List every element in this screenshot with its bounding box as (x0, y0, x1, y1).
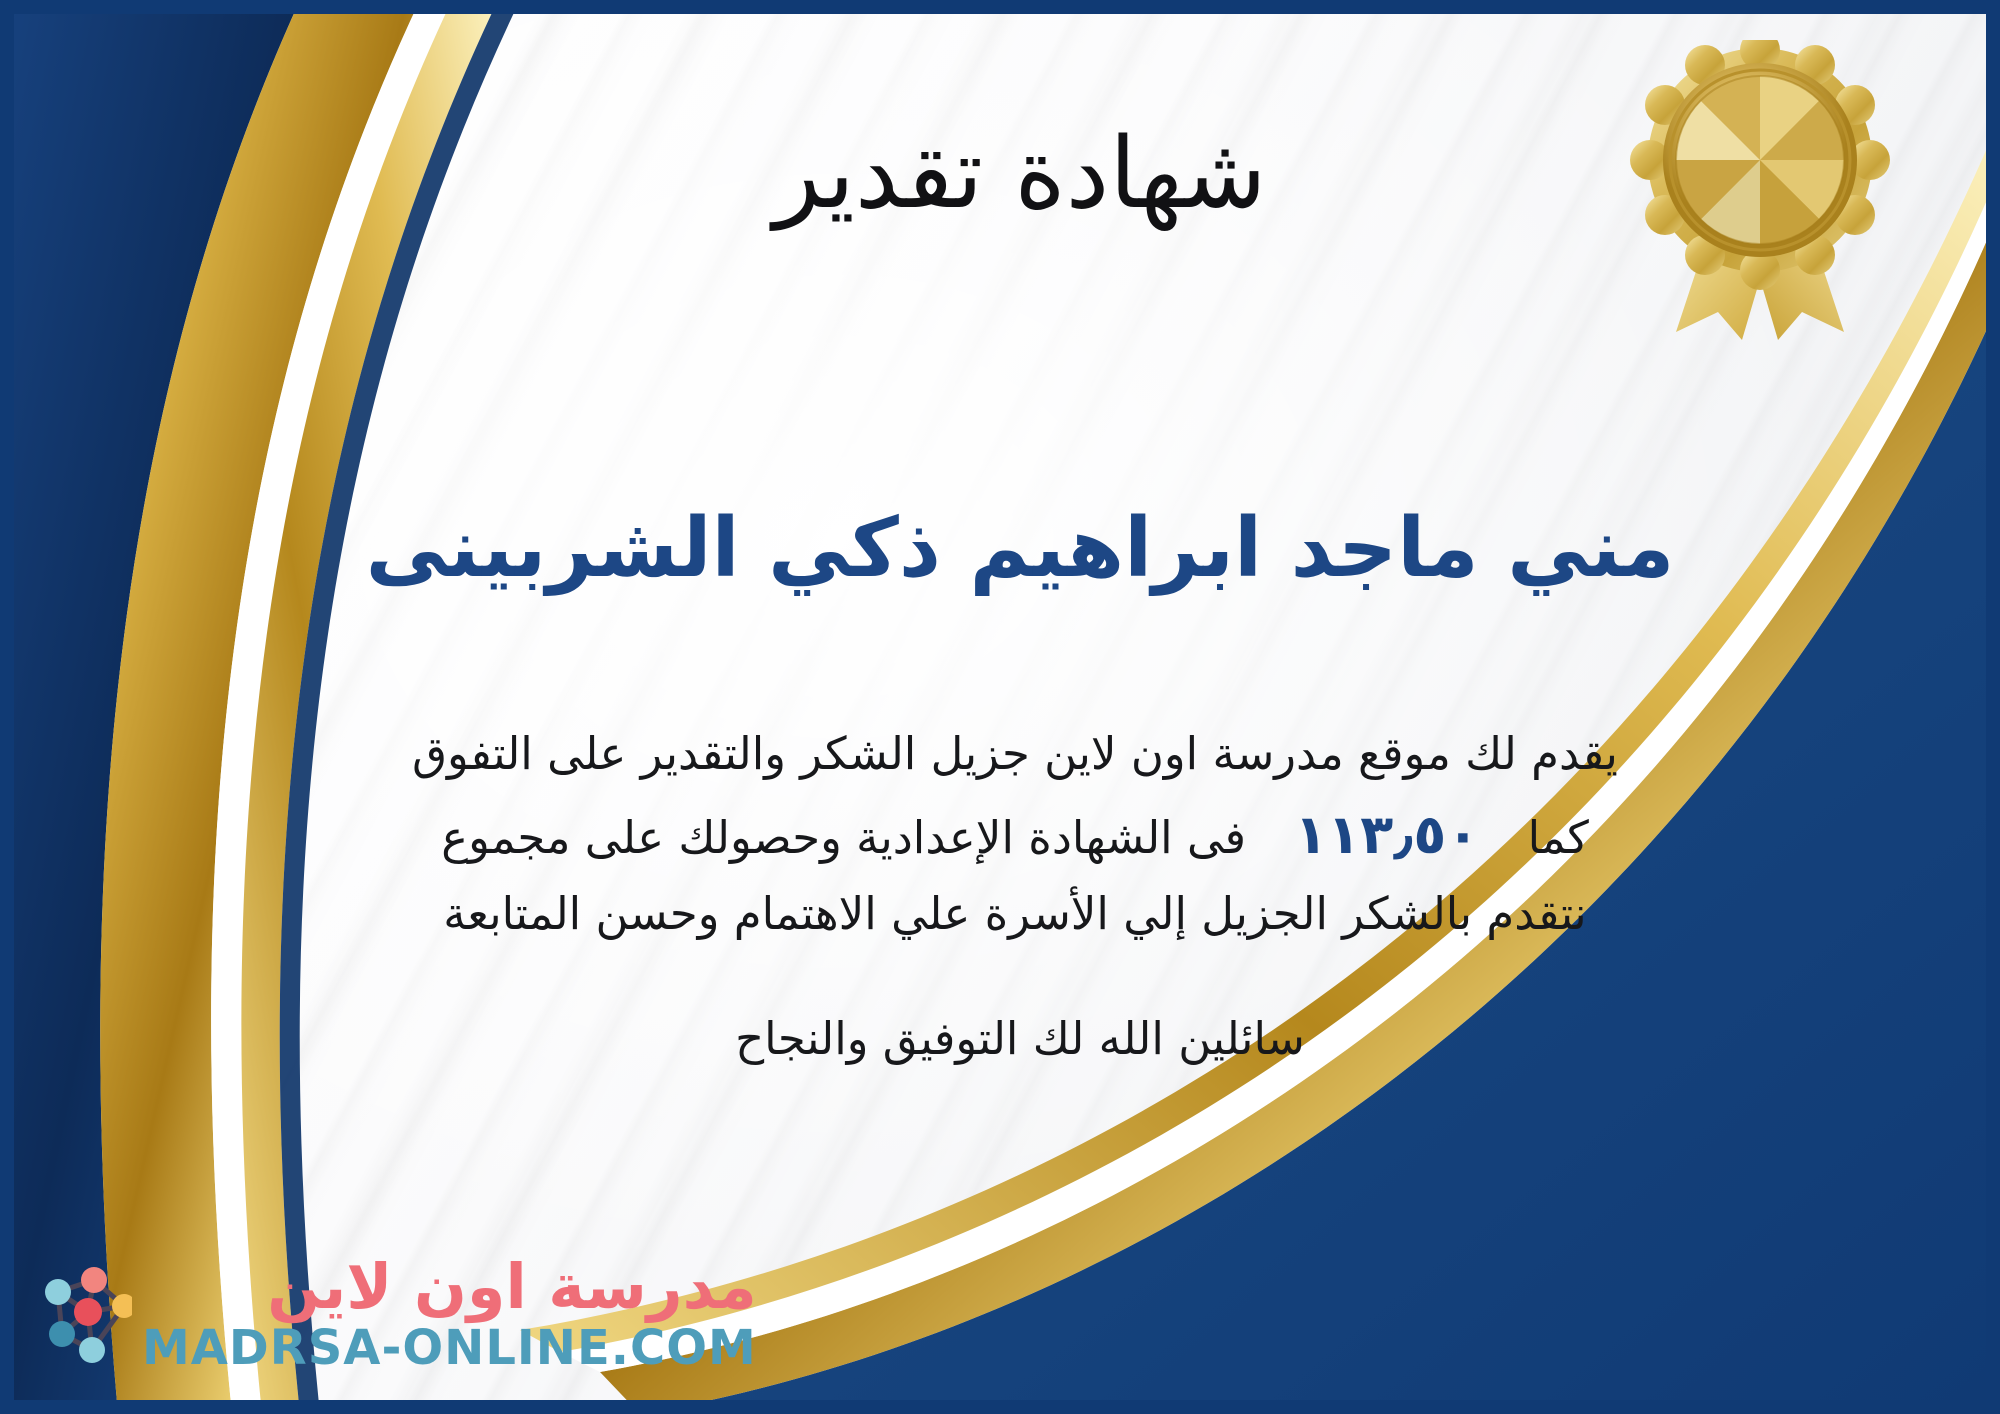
closing-line: سائلين الله لك التوفيق والنجاح (170, 1012, 1870, 1065)
body-line-2-suffix: كما (1528, 811, 1589, 864)
body-line-3: نتقدم بالشكر الجزيل إلي الأسرة علي الاهت… (160, 878, 1870, 951)
recipient-name: مني ماجد ابراهيم ذكي الشربينى (170, 500, 1870, 598)
body-line-2: كما ١١٣٫٥٠ فى الشهادة الإعدادية وحصولك ع… (160, 791, 1870, 878)
brand-domain: MADRSA-ONLINE.COM (142, 1324, 757, 1372)
body-line-2-prefix: فى الشهادة الإعدادية وحصولك على مجموع (441, 811, 1246, 864)
brand-logo[interactable]: مدرسة اون لاين MADRSA-ONLINE.COM (36, 1256, 757, 1372)
brand-name-arabic: مدرسة اون لاين (267, 1256, 757, 1318)
brand-logo-text: مدرسة اون لاين MADRSA-ONLINE.COM (142, 1256, 757, 1372)
certificate-page: شهادة تقدير مني ماجد ابراهيم ذكي الشربين… (0, 0, 2000, 1414)
score-value: ١١٣٫٥٠ (1260, 803, 1513, 866)
body-line-1: يقدم لك موقع مدرسة اون لاين جزيل الشكر و… (160, 718, 1870, 791)
network-nodes-icon (36, 1262, 132, 1366)
certificate-content: شهادة تقدير مني ماجد ابراهيم ذكي الشربين… (170, 0, 1870, 1414)
page-title: شهادة تقدير (170, 118, 1870, 231)
certificate-body-text: يقدم لك موقع مدرسة اون لاين جزيل الشكر و… (160, 718, 1870, 951)
